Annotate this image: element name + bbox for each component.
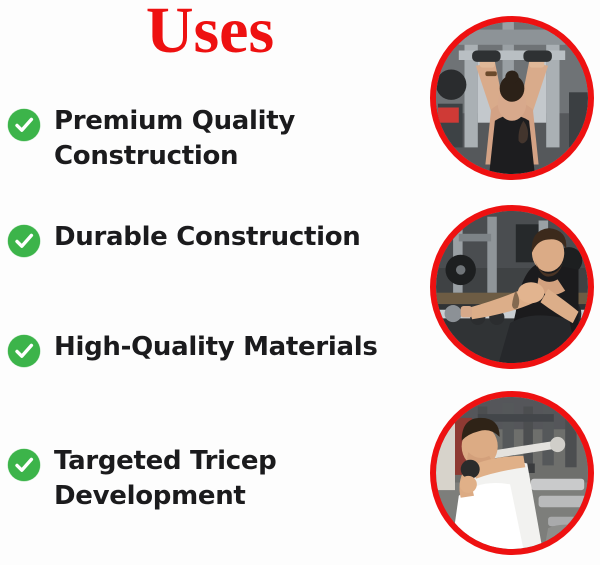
photo-tricep-pushdown-image [436, 397, 588, 549]
photo-column [420, 0, 600, 565]
check-circle-icon [8, 449, 40, 481]
list-item: Durable Construction [8, 220, 360, 257]
list-item: Targeted Tricep Development [8, 444, 277, 514]
photo-cable-lat-pulldown-image [436, 22, 588, 174]
list-item-label: Targeted Tricep Development [54, 444, 277, 514]
uses-infographic: Uses Premium Quality Construction Durabl… [0, 0, 600, 565]
list-item-label: High-Quality Materials [54, 330, 378, 365]
photo-tricep-pushdown [430, 391, 594, 555]
list-item: High-Quality Materials [8, 330, 378, 367]
list-item-label: Premium Quality Construction [54, 104, 295, 174]
photo-seated-row-image [436, 211, 588, 363]
check-circle-icon [8, 335, 40, 367]
check-circle-icon [8, 109, 40, 141]
list-item-label: Durable Construction [54, 220, 360, 255]
list-item: Premium Quality Construction [8, 104, 295, 174]
photo-cable-lat-pulldown [430, 16, 594, 180]
page-title: Uses [0, 0, 420, 65]
photo-seated-row [430, 205, 594, 369]
check-circle-icon [8, 225, 40, 257]
